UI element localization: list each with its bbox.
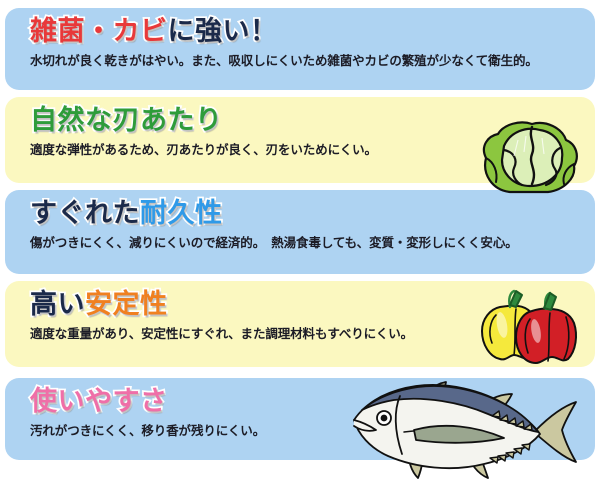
- feature-panel-stability: 高い安定性 適度な重量があり、安定性にすぐれ、また調理材料もすべりにくい。: [5, 281, 595, 367]
- feature-description: 水切れが良く乾きがはやい。また、吸収しにくいため雑菌やカビの繁殖が少なくて衛生的…: [30, 53, 595, 69]
- feature-title: 雑菌・カビに強い！: [30, 17, 595, 47]
- feature-description: 適度な弾性があるため、刃あたりが良く、刃をいためにくい。: [30, 142, 595, 158]
- feature-panel-antibacterial: 雑菌・カビに強い！ 水切れが良く乾きがはやい。また、吸収しにくいため雑菌やカビの…: [5, 8, 595, 90]
- feature-description: 適度な重量があり、安定性にすぐれ、また調理材料もすべりにくい。: [30, 326, 595, 342]
- title-part-base: 高い: [30, 289, 85, 320]
- title-part-base: に強い！: [168, 16, 278, 47]
- panel-content: すぐれた耐久性 傷がつきにくく、減りにくいので経済的。 熱湯食毒しても、変質・変…: [5, 190, 595, 251]
- feature-title: すぐれた耐久性: [30, 199, 595, 229]
- panel-content: 高い安定性 適度な重量があり、安定性にすぐれ、また調理材料もすべりにくい。: [5, 281, 595, 342]
- title-part-highlight: 自然な刃あたり: [30, 105, 223, 136]
- feature-title: 自然な刃あたり: [30, 106, 595, 136]
- title-part-highlight: 雑菌・カビ: [30, 16, 168, 47]
- title-part-highlight: 耐久性: [140, 198, 223, 229]
- feature-description: 汚れがつきにくく、移り香が残りにくい。: [30, 423, 595, 439]
- feature-title: 使いやすさ: [30, 387, 595, 417]
- title-part-highlight: 使いやすさ: [30, 386, 168, 417]
- feature-infographic: 雑菌・カビに強い！ 水切れが良く乾きがはやい。また、吸収しにくいため雑菌やカビの…: [0, 0, 600, 484]
- title-part-highlight: 安定性: [85, 289, 168, 320]
- panel-content: 雑菌・カビに強い！ 水切れが良く乾きがはやい。また、吸収しにくいため雑菌やカビの…: [5, 8, 595, 69]
- panel-content: 使いやすさ 汚れがつきにくく、移り香が残りにくい。: [5, 378, 595, 439]
- feature-description: 傷がつきにくく、減りにくいので経済的。 熱湯食毒しても、変質・変形しにくく安心。: [30, 235, 595, 251]
- feature-panel-durability: すぐれた耐久性 傷がつきにくく、減りにくいので経済的。 熱湯食毒しても、変質・変…: [5, 190, 595, 274]
- feature-panel-ease-of-use: 使いやすさ 汚れがつきにくく、移り香が残りにくい。: [5, 378, 595, 460]
- panel-content: 自然な刃あたり 適度な弾性があるため、刃あたりが良く、刃をいためにくい。: [5, 97, 595, 158]
- feature-panel-blade-friendly: 自然な刃あたり 適度な弾性があるため、刃あたりが良く、刃をいためにくい。: [5, 97, 595, 183]
- title-part-base: すぐれた: [30, 198, 140, 229]
- feature-title: 高い安定性: [30, 290, 595, 320]
